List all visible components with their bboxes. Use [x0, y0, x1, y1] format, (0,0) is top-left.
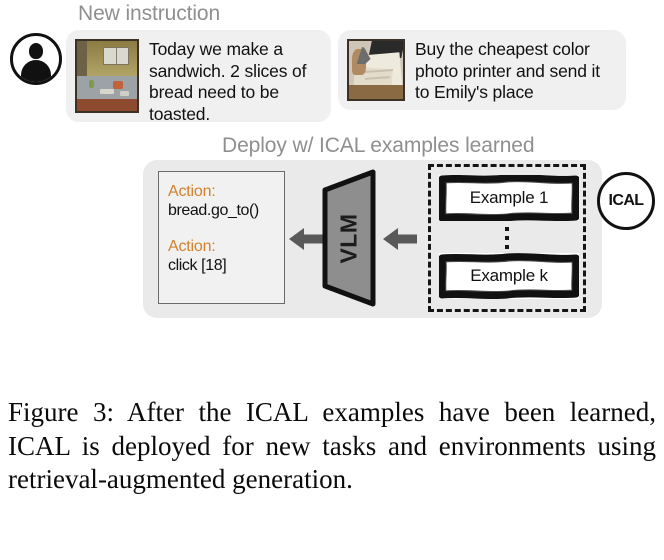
example-card-last[interactable]: Example k — [439, 253, 579, 299]
arrow-left-icon-output — [289, 226, 323, 252]
avatar-body-shape — [21, 60, 51, 84]
instruction-text-sandwich: Today we make a sandwich. 2 slices of br… — [149, 39, 321, 125]
new-instruction-header: New instruction — [78, 2, 220, 26]
ellipsis-dot — [505, 245, 509, 249]
ical-badge-label: ICAL — [609, 192, 644, 210]
example-label-first: Example 1 — [470, 188, 549, 208]
arrow-left-icon-input — [383, 226, 417, 252]
ical-badge: ICAL — [597, 172, 655, 230]
deploy-header: Deploy w/ ICAL examples learned — [222, 134, 534, 158]
scene-object-toaster — [113, 81, 123, 89]
example-card-first[interactable]: Example 1 — [439, 175, 579, 221]
scene-counter — [77, 76, 137, 100]
example-label-last: Example k — [470, 266, 548, 286]
vertical-ellipsis-icon — [505, 227, 509, 249]
action-spacer — [168, 220, 284, 237]
action-output-box: Action: bread.go_to() Action: click [18] — [158, 171, 285, 304]
scene-object-bottle — [89, 80, 94, 88]
scene-window — [103, 47, 128, 65]
action-code-2: click [18] — [168, 256, 284, 275]
vlm-shape — [321, 168, 377, 308]
instruction-bubble-sandwich: Today we make a sandwich. 2 slices of br… — [66, 30, 331, 122]
scene-desk-surface — [349, 85, 403, 99]
action-label-2: Action: — [168, 237, 284, 256]
avatar-head-shape — [29, 43, 43, 59]
desk-printer-thumbnail — [347, 39, 405, 101]
scene-object-plate — [100, 89, 114, 94]
figure-caption: Figure 3: After the ICAL examples have b… — [8, 396, 656, 497]
kitchen-counter-thumbnail — [75, 39, 139, 113]
instruction-text-printer: Buy the cheapest color photo printer and… — [415, 39, 616, 104]
retrieved-examples-container: Example 1 Example k — [428, 164, 586, 312]
scene-window-mullion — [116, 48, 117, 64]
user-avatar-icon — [10, 33, 62, 85]
action-code-1: bread.go_to() — [168, 201, 284, 220]
instruction-bubble-printer: Buy the cheapest color photo printer and… — [338, 30, 626, 110]
ellipsis-dot — [505, 236, 509, 240]
ellipsis-dot — [505, 227, 509, 231]
action-label-1: Action: — [168, 182, 284, 201]
deploy-panel: Action: bread.go_to() Action: click [18]… — [143, 160, 602, 318]
scene-object-bread — [120, 91, 128, 95]
scene-cabinet — [77, 99, 137, 111]
